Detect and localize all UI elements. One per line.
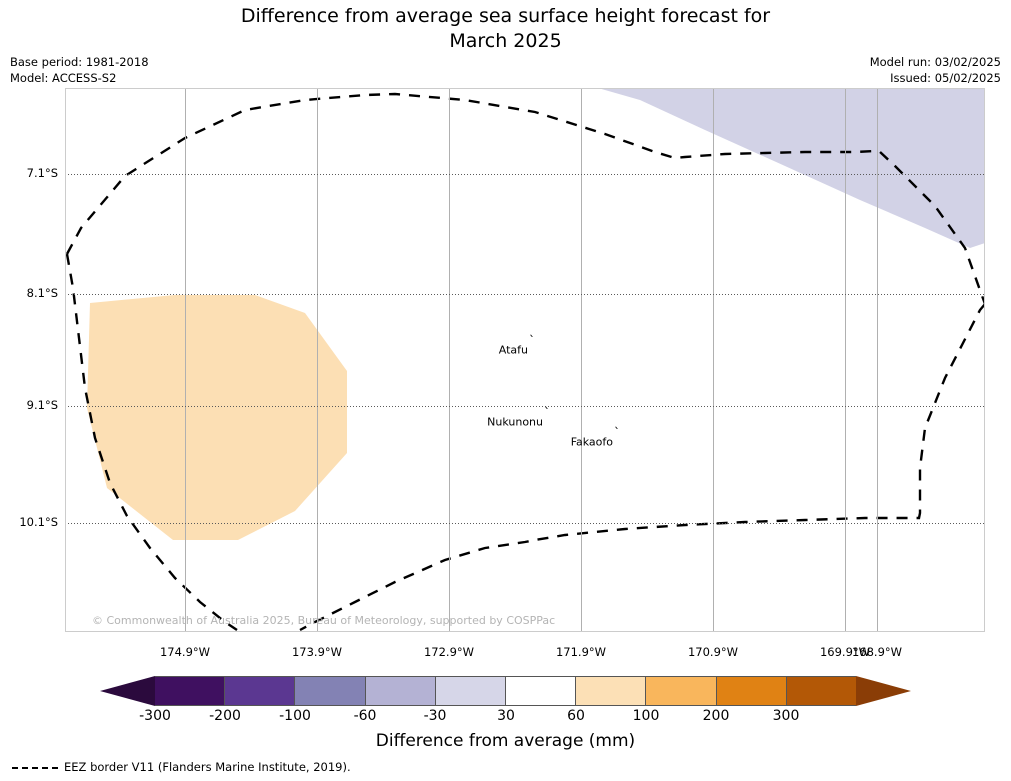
colorbar-tick-7: 100 <box>633 708 660 724</box>
gridline-horizontal <box>65 294 985 295</box>
xaxis-tick-4: 170.9°W <box>688 645 738 659</box>
model-label: Model: ACCESS-S2 <box>10 70 149 86</box>
metadata-left: Base period: 1981-2018 Model: ACCESS-S2 <box>10 54 149 86</box>
eez-legend-label: EEZ border V11 (Flanders Marine Institut… <box>64 760 351 774</box>
eez-border-path <box>67 94 985 304</box>
eez-dash-icon <box>12 767 58 769</box>
island-label-fakaofo: Fakaofo <box>571 436 613 449</box>
gridline-horizontal <box>65 174 985 175</box>
model-run-label: Model run: 03/02/2025 <box>870 54 1001 70</box>
colorbar-segment-7[interactable] <box>646 676 716 706</box>
map-plot-area: Atafu` Nukunonu` Fakaofo` <box>65 88 985 632</box>
colorbar-tick-5: 30 <box>497 708 515 724</box>
eez-legend: EEZ border V11 (Flanders Marine Institut… <box>12 760 351 774</box>
colorbar-segments[interactable] <box>155 676 856 706</box>
xaxis-tick-0: 174.9°W <box>160 645 210 659</box>
island-label-atafu: Atafu <box>499 344 528 357</box>
colorbar-tick-2: -100 <box>279 708 311 724</box>
eez-border-line <box>65 88 985 632</box>
issued-label: Issued: 05/02/2025 <box>870 70 1001 86</box>
colorbar[interactable]: -300 -200 -100 -60 -30 30 60 100 200 300 <box>100 676 911 706</box>
colorbar-tick-9: 300 <box>773 708 800 724</box>
eez-border-path-west <box>67 254 237 630</box>
xaxis-tick-2: 172.9°W <box>424 645 474 659</box>
gridline-vertical <box>449 88 450 632</box>
yaxis-tick-3-label: 10.1°S <box>19 515 58 529</box>
metadata-right: Model run: 03/02/2025 Issued: 05/02/2025 <box>870 54 1001 86</box>
copyright-watermark: © Commonwealth of Australia 2025, Bureau… <box>92 614 555 627</box>
gridline-horizontal <box>65 523 985 524</box>
page-title-line1: Difference from average sea surface heig… <box>0 4 1011 29</box>
colorbar-tick-1: -200 <box>209 708 241 724</box>
colorbar-segment-4[interactable] <box>436 676 506 706</box>
xaxis-tick-3: 171.9°W <box>556 645 606 659</box>
colorbar-segment-5[interactable] <box>506 676 576 706</box>
page-title: Difference from average sea surface heig… <box>0 4 1011 54</box>
colorbar-segment-0[interactable] <box>155 676 225 706</box>
colorbar-segment-9[interactable] <box>787 676 856 706</box>
yaxis-tick-1-label: 8.1°S <box>27 286 58 300</box>
yaxis-tick-0-label: 7.1°S <box>27 166 58 180</box>
gridline-vertical <box>317 88 318 632</box>
xaxis-tick-1: 173.9°W <box>292 645 342 659</box>
eez-border-path-east <box>300 304 985 630</box>
gridline-vertical <box>713 88 714 632</box>
colorbar-tick-4: -30 <box>424 708 447 724</box>
colorbar-segment-8[interactable] <box>717 676 787 706</box>
colorbar-segment-6[interactable] <box>576 676 646 706</box>
colorbar-segment-3[interactable] <box>366 676 436 706</box>
colorbar-segment-1[interactable] <box>225 676 295 706</box>
island-label-nukunonu: Nukunonu <box>487 416 543 429</box>
base-period-label: Base period: 1981-2018 <box>10 54 149 70</box>
colorbar-tick-6: 60 <box>567 708 585 724</box>
xaxis-tick-6: 168.9°W <box>852 645 902 659</box>
colorbar-cap-high-icon <box>856 676 911 706</box>
island-marker-nukunonu: Nukunonu` <box>487 416 543 429</box>
island-tick-icon: ` <box>614 427 620 439</box>
island-tick-icon: ` <box>529 335 535 347</box>
colorbar-tick-3: -60 <box>354 708 377 724</box>
colorbar-title: Difference from average (mm) <box>0 731 1011 751</box>
gridline-vertical <box>185 88 186 632</box>
island-tick-icon: ` <box>544 407 550 419</box>
colorbar-tick-8: 200 <box>703 708 730 724</box>
gridline-vertical <box>877 88 878 632</box>
gridline-vertical <box>845 88 846 632</box>
gridline-vertical <box>581 88 582 632</box>
map-dot-marker <box>626 631 628 632</box>
page-title-line2: March 2025 <box>0 29 1011 54</box>
colorbar-cap-low-icon <box>100 676 155 706</box>
yaxis-tick-2-label: 9.1°S <box>27 398 58 412</box>
gridline-horizontal <box>65 406 985 407</box>
colorbar-segment-2[interactable] <box>295 676 365 706</box>
island-marker-fakaofo: Fakaofo` <box>571 436 613 449</box>
colorbar-tick-0: -300 <box>139 708 171 724</box>
island-marker-atafu: Atafu` <box>499 344 528 357</box>
